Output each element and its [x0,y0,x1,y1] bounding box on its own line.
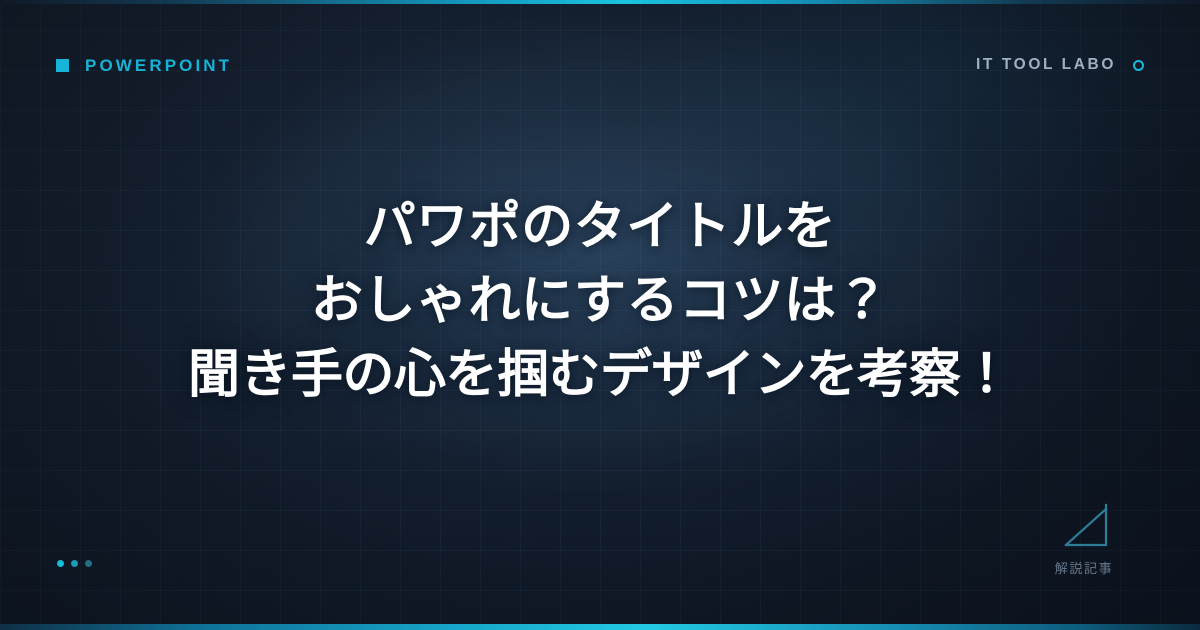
dot-3-icon [85,560,92,567]
header: POWERPOINT IT TOOL LABO [56,48,1144,82]
filled-square-icon [56,59,69,72]
triangle-corner-icon [1056,499,1112,551]
brand-group: POWERPOINT [56,57,232,74]
footer-decoration: 解説記事 [1024,499,1144,576]
title-line-1: パワポのタイトルを [60,190,1140,264]
title-line-3: 聞き手の心を掴むデザインを考察！ [60,338,1140,412]
dot-indicator-group [57,560,92,567]
title-line-2: おしゃれにするコツは？ [60,264,1140,338]
decoration-label: 解説記事 [1055,563,1113,576]
site-group: IT TOOL LABO [976,57,1144,73]
top-accent-bar [0,0,1200,4]
dot-1-icon [57,560,64,567]
bottom-accent-bar [0,624,1200,630]
page-title: パワポのタイトルを おしゃれにするコツは？ 聞き手の心を掴むデザインを考察！ [0,190,1200,412]
circle-outline-icon [1133,60,1144,71]
site-name-label: IT TOOL LABO [976,57,1116,73]
ogp-card: POWERPOINT IT TOOL LABO パワポのタイトルを おしゃれにす… [0,0,1200,630]
category-label: POWERPOINT [85,57,232,74]
dot-2-icon [71,560,78,567]
